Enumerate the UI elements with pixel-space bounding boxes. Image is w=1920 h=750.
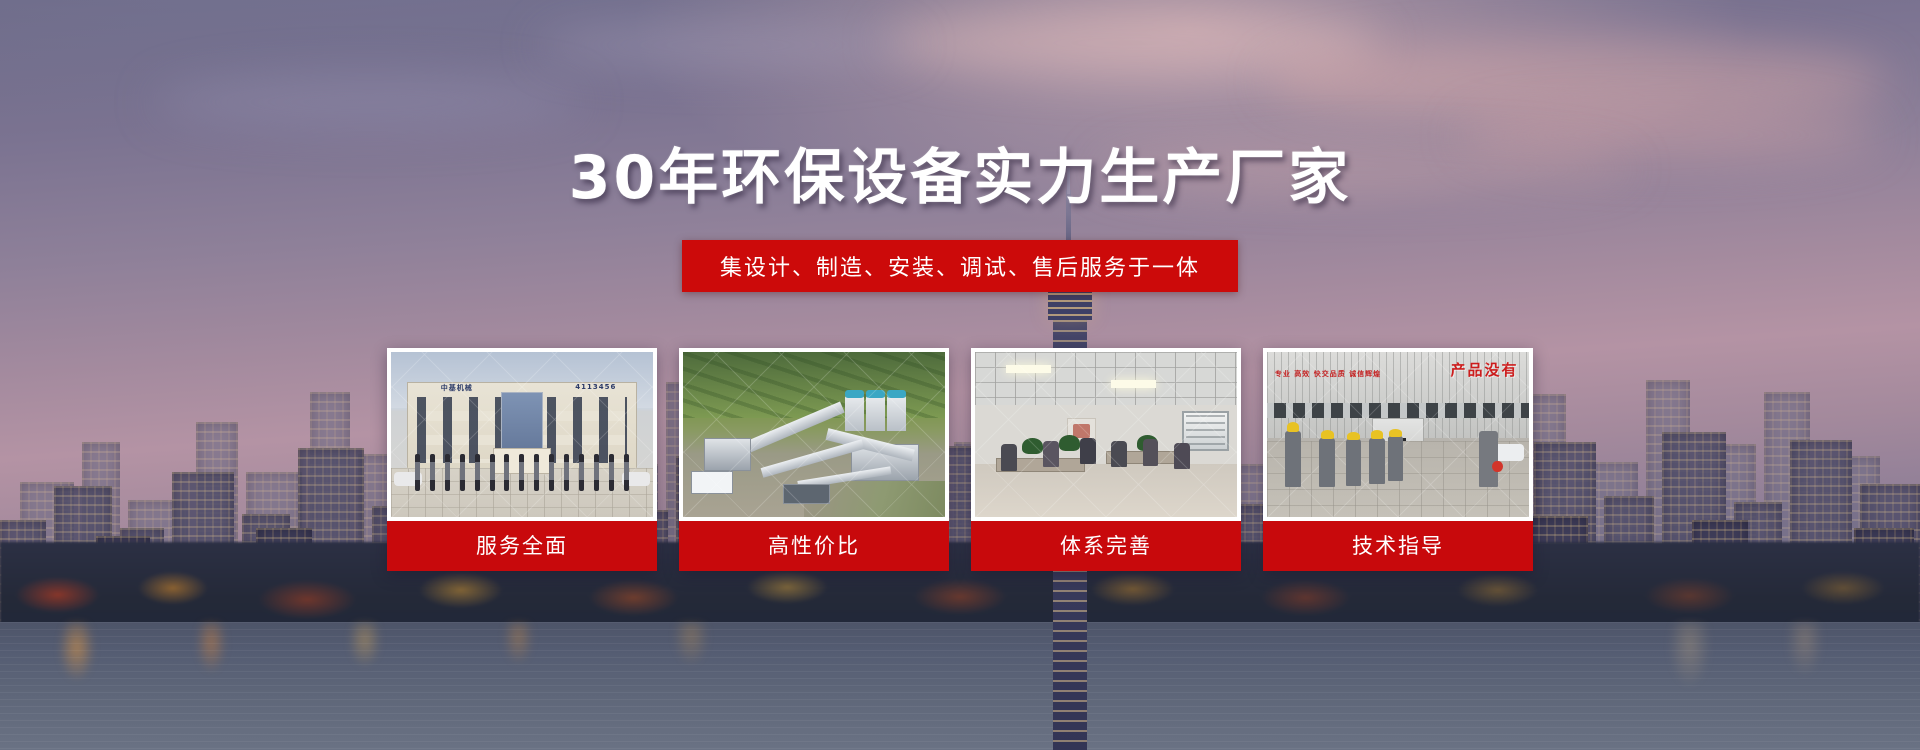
feature-card[interactable]: 中基机械 4113456 服务全面 [387,348,657,571]
page-title: 30年环保设备实力生产厂家 [0,148,1920,208]
card-photo-plant-aerial [683,352,945,517]
subtitle-bar: 集设计、制造、安装、调试、售后服务于一体 [682,240,1238,292]
card-caption: 高性价比 [679,521,949,571]
card-caption: 体系完善 [971,521,1241,571]
building-phone-text: 4113456 [575,383,616,391]
cloud [538,23,918,67]
feature-card-list: 中基机械 4113456 服务全面 [387,348,1533,571]
feature-card[interactable]: 高性价比 [679,348,949,571]
cloud [883,8,1383,78]
building-sign-text: 中基机械 [441,383,473,393]
card-caption: 技术指导 [1263,521,1533,571]
factory-sign-side-text: 专业 高效 快交品质 诚信辉煌 [1275,369,1381,380]
cloud [1267,38,1887,123]
factory-sign-text: 产品没有 [1451,359,1519,380]
feature-card[interactable]: 产品没有 专业 高效 快交品质 诚信辉煌 技术指导 [1263,348,1533,571]
river-water [0,622,1920,750]
card-caption: 服务全面 [387,521,657,571]
card-photo-office-building: 中基机械 4113456 [391,352,653,517]
card-photo-workers-factory: 产品没有 专业 高效 快交品质 诚信辉煌 [1267,352,1529,517]
feature-card[interactable]: 体系完善 [971,348,1241,571]
hero-banner: 30年环保设备实力生产厂家 集设计、制造、安装、调试、售后服务于一体 中基机械 … [0,0,1920,750]
card-photo-office-interior [975,352,1237,517]
